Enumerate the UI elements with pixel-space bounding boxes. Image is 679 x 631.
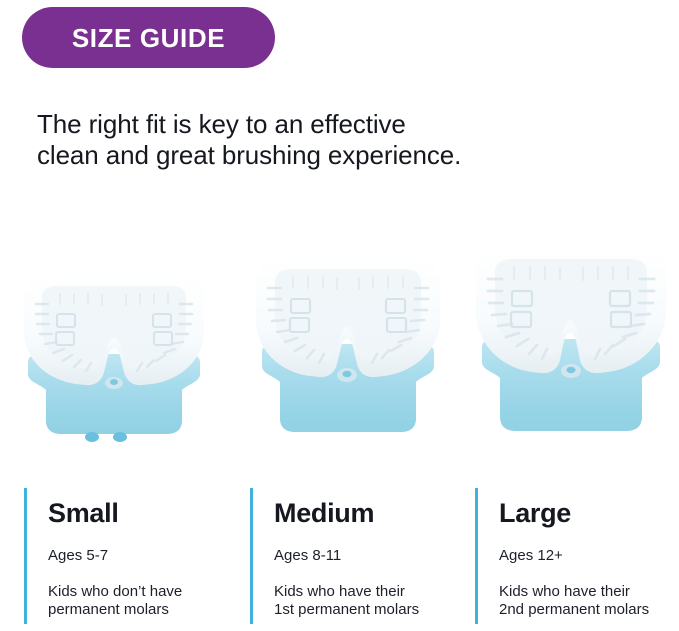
size-desc-medium-line-1: Kids who have their <box>274 583 472 601</box>
size-desc-medium: Kids who have their 1st permanent molars <box>274 583 472 619</box>
size-ages-small: Ages 5-7 <box>48 548 239 563</box>
size-desc-small: Kids who don’t have permanent molars <box>48 583 239 619</box>
headline-line-1: The right fit is key to an effective <box>37 109 597 140</box>
product-image-large <box>468 242 673 452</box>
product-image-medium <box>248 252 446 452</box>
size-column-small: Small Ages 5-7 Kids who don’t have perma… <box>24 488 239 624</box>
size-column-medium: Medium Ages 8-11 Kids who have their 1st… <box>250 488 472 624</box>
size-ages-medium: Ages 8-11 <box>274 548 472 563</box>
product-image-small <box>16 270 212 452</box>
size-desc-large: Kids who have their 2nd permanent molars <box>499 583 679 619</box>
headline: The right fit is key to an effective cle… <box>37 109 597 171</box>
headline-line-2: clean and great brushing experience. <box>37 140 597 171</box>
size-desc-small-line-1: Kids who don’t have <box>48 583 239 601</box>
product-image-row <box>0 222 679 452</box>
size-desc-small-line-2: permanent molars <box>48 601 239 619</box>
size-column-large: Large Ages 12+ Kids who have their 2nd p… <box>475 488 679 624</box>
size-desc-medium-line-2: 1st permanent molars <box>274 601 472 619</box>
size-guide-badge: SIZE GUIDE <box>22 7 275 68</box>
size-name-small: Small <box>48 500 239 527</box>
size-desc-large-line-2: 2nd permanent molars <box>499 601 679 619</box>
size-name-large: Large <box>499 500 679 527</box>
size-desc-large-line-1: Kids who have their <box>499 583 679 601</box>
size-ages-large: Ages 12+ <box>499 548 679 563</box>
size-guide-badge-label: SIZE GUIDE <box>72 25 225 51</box>
size-name-medium: Medium <box>274 500 472 527</box>
size-columns: Small Ages 5-7 Kids who don’t have perma… <box>0 488 679 628</box>
